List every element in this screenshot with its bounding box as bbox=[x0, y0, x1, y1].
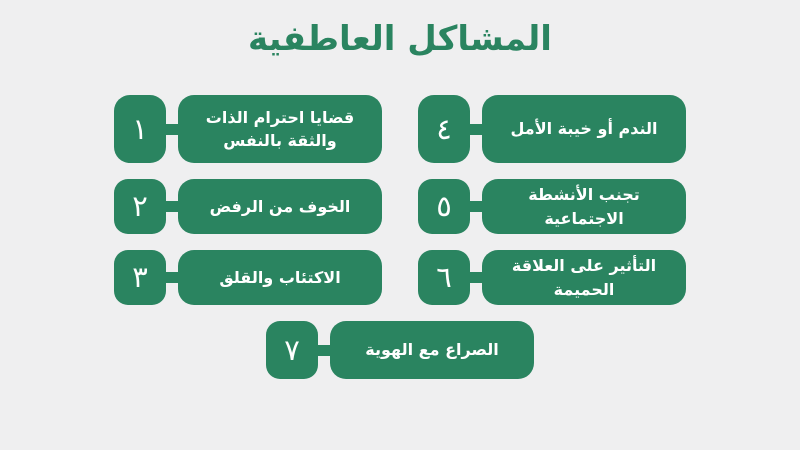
item-label: الندم أو خيبة الأمل bbox=[482, 95, 686, 163]
item-number-badge: ٧ bbox=[266, 321, 318, 379]
item-number-badge: ٢ bbox=[114, 179, 166, 234]
list-item-1[interactable]: ١ قضايا احترام الذات والثقة بالنفس bbox=[114, 95, 382, 163]
item-number-badge: ٦ bbox=[418, 250, 470, 305]
page-title: المشاكل العاطفية bbox=[0, 18, 800, 61]
connector-bar bbox=[166, 272, 178, 283]
connector-bar bbox=[470, 272, 482, 283]
connector-bar bbox=[166, 201, 178, 212]
item-label: الصراع مع الهوية bbox=[330, 321, 534, 379]
infographic-root: المشاكل العاطفية ١ قضايا احترام الذات وا… bbox=[0, 0, 800, 450]
list-item-5[interactable]: ٥ تجنب الأنشطة الاجتماعية bbox=[418, 179, 686, 234]
list-item-2[interactable]: ٢ الخوف من الرفض bbox=[114, 179, 382, 234]
connector-bar bbox=[470, 201, 482, 212]
item-label: الاكتئاب والقلق bbox=[178, 250, 382, 305]
list-item-3[interactable]: ٣ الاكتئاب والقلق bbox=[114, 250, 382, 305]
list-item-4[interactable]: ٤ الندم أو خيبة الأمل bbox=[418, 95, 686, 163]
item-row: ٣ الاكتئاب والقلق ٦ التأثير على العلاقة … bbox=[0, 250, 800, 305]
connector-bar bbox=[166, 124, 178, 135]
item-row: ٧ الصراع مع الهوية bbox=[0, 321, 800, 379]
item-number-badge: ٤ bbox=[418, 95, 470, 163]
list-item-6[interactable]: ٦ التأثير على العلاقة الحميمة bbox=[418, 250, 686, 305]
item-label: تجنب الأنشطة الاجتماعية bbox=[482, 179, 686, 234]
item-row: ١ قضايا احترام الذات والثقة بالنفس ٤ الن… bbox=[0, 95, 800, 163]
connector-bar bbox=[470, 124, 482, 135]
connector-bar bbox=[318, 345, 330, 356]
item-number-badge: ١ bbox=[114, 95, 166, 163]
item-label: التأثير على العلاقة الحميمة bbox=[482, 250, 686, 305]
items-grid: ١ قضايا احترام الذات والثقة بالنفس ٤ الن… bbox=[0, 95, 800, 379]
list-item-7[interactable]: ٧ الصراع مع الهوية bbox=[266, 321, 534, 379]
item-label: الخوف من الرفض bbox=[178, 179, 382, 234]
item-label: قضايا احترام الذات والثقة بالنفس bbox=[178, 95, 382, 163]
item-number-badge: ٣ bbox=[114, 250, 166, 305]
item-number-badge: ٥ bbox=[418, 179, 470, 234]
item-row: ٢ الخوف من الرفض ٥ تجنب الأنشطة الاجتماع… bbox=[0, 179, 800, 234]
